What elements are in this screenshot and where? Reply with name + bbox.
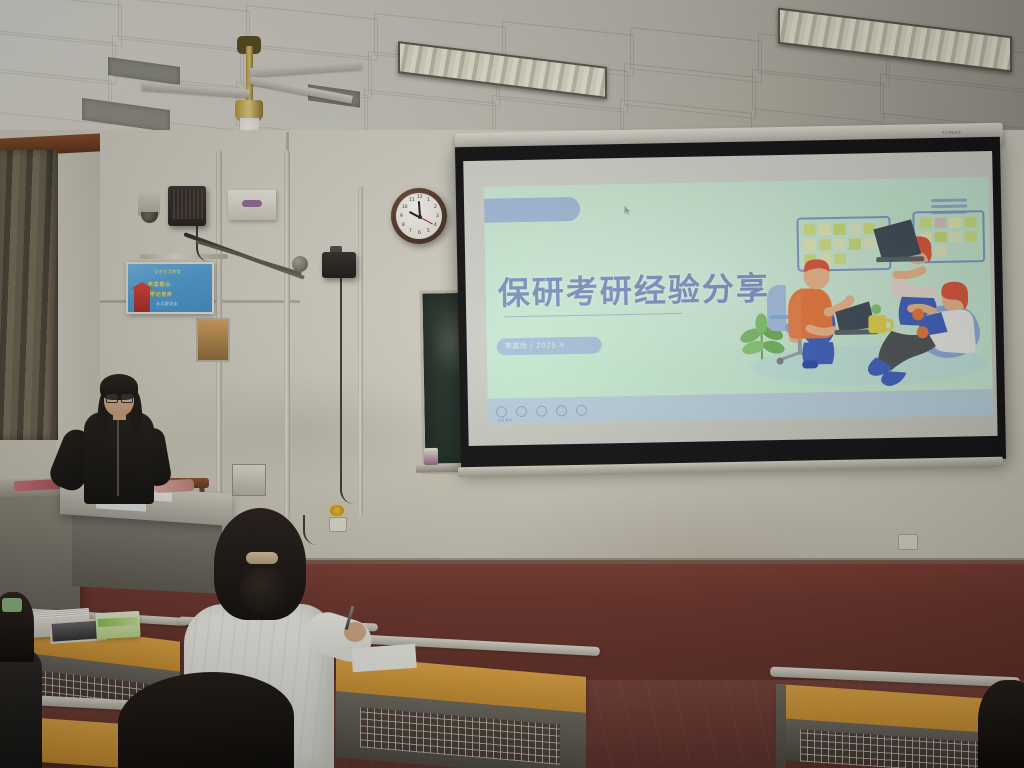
speaker-grille <box>171 189 203 219</box>
clock-tick: 2 <box>434 205 437 210</box>
projector-arm-joint <box>292 256 308 272</box>
clock-tick: 7 <box>409 229 412 234</box>
slide-title: 保研考研经验分享 <box>497 263 770 314</box>
clock-tick: 11 <box>409 198 415 203</box>
projector-screen: 保研考研经验分享 李嘉怡 / 2025.4 SEEK <box>455 137 1006 469</box>
slide-subtitle-pill: 李嘉怡 / 2025.4 <box>497 336 602 355</box>
screen-case-label: SCREEN <box>942 130 961 135</box>
wall-socket[interactable] <box>329 517 347 532</box>
mouse-cursor-icon <box>624 206 631 215</box>
clock-tick: 1 <box>427 198 430 203</box>
indicator-lamp-icon <box>330 505 344 516</box>
clock-center-pin <box>418 215 422 219</box>
clock-tick: 4 <box>434 223 437 228</box>
poster-line-2: 不忘初心 <box>148 281 171 288</box>
presenter-body <box>84 412 154 504</box>
hair-bun <box>240 566 290 614</box>
teacher-desk-front <box>72 512 222 594</box>
footer-circle-icon <box>516 406 527 417</box>
left-wall-pillar <box>56 150 100 450</box>
power-cable <box>340 278 364 504</box>
slide-accent-pill <box>484 197 580 223</box>
notebook-paper[interactable] <box>351 644 417 672</box>
clock-tick: 5 <box>427 229 430 234</box>
wall-outlet[interactable] <box>898 534 918 550</box>
slide-footer-icons <box>496 405 587 418</box>
jacket-zipper <box>117 418 119 496</box>
power-cable <box>303 515 331 545</box>
slide-illustration <box>737 203 991 393</box>
footer-circle-icon <box>576 405 587 416</box>
clock-tick: 10 <box>402 205 408 210</box>
wall-speaker <box>168 186 206 226</box>
clock-face: 12 1 2 3 4 5 6 7 8 9 10 11 <box>396 193 442 239</box>
screen-surface: 保研考研经验分享 李嘉怡 / 2025.4 SEEK <box>463 151 997 446</box>
slide-footer-word: SEEK <box>498 417 513 422</box>
student-desk-leg <box>776 684 786 768</box>
wall-poster: 党史学习教育 不忘初心 牢记使命 永远跟党走 <box>126 262 214 314</box>
poster-line-3: 牢记使命 <box>150 291 172 298</box>
window-curtain <box>0 150 58 440</box>
classroom-photo: 12 1 2 3 4 5 6 7 8 9 10 11 党史学习教育 不忘初心 牢… <box>0 0 1024 768</box>
wall-panel-white <box>232 464 266 496</box>
eyeglasses-icon <box>106 394 132 402</box>
wall-pipe-vertical <box>284 150 290 520</box>
clock-tick: 6 <box>418 231 421 236</box>
footer-circle-icon <box>536 406 547 417</box>
clock-tick: 8 <box>402 223 405 228</box>
footer-circle-icon <box>556 405 567 416</box>
wall-control-box[interactable] <box>228 190 276 220</box>
poster-line-1: 党史学习教育 <box>154 269 181 275</box>
ceiling-arm-projector <box>322 252 356 278</box>
clock-tick: 3 <box>436 214 439 219</box>
hair-tie <box>246 552 278 564</box>
student-left-edge-collar <box>2 598 22 612</box>
projected-slide: 保研考研经验分享 李嘉怡 / 2025.4 SEEK <box>484 177 993 425</box>
mug-icon <box>868 304 893 333</box>
student-left-edge-body <box>0 648 42 768</box>
wall-clock: 12 1 2 3 4 5 6 7 8 9 10 11 <box>391 188 447 244</box>
student-right-edge-hair <box>978 680 1024 768</box>
clock-tick: 9 <box>400 214 403 219</box>
poster-line-4: 永远跟党走 <box>156 301 178 307</box>
clock-tick: 12 <box>417 195 423 200</box>
chalk-box[interactable] <box>424 448 438 465</box>
control-box-logo <box>242 200 262 207</box>
slide-subtitle: 李嘉怡 / 2025.4 <box>505 340 565 351</box>
wall-panel-amber <box>196 318 230 362</box>
footer-circle-icon <box>496 406 507 417</box>
